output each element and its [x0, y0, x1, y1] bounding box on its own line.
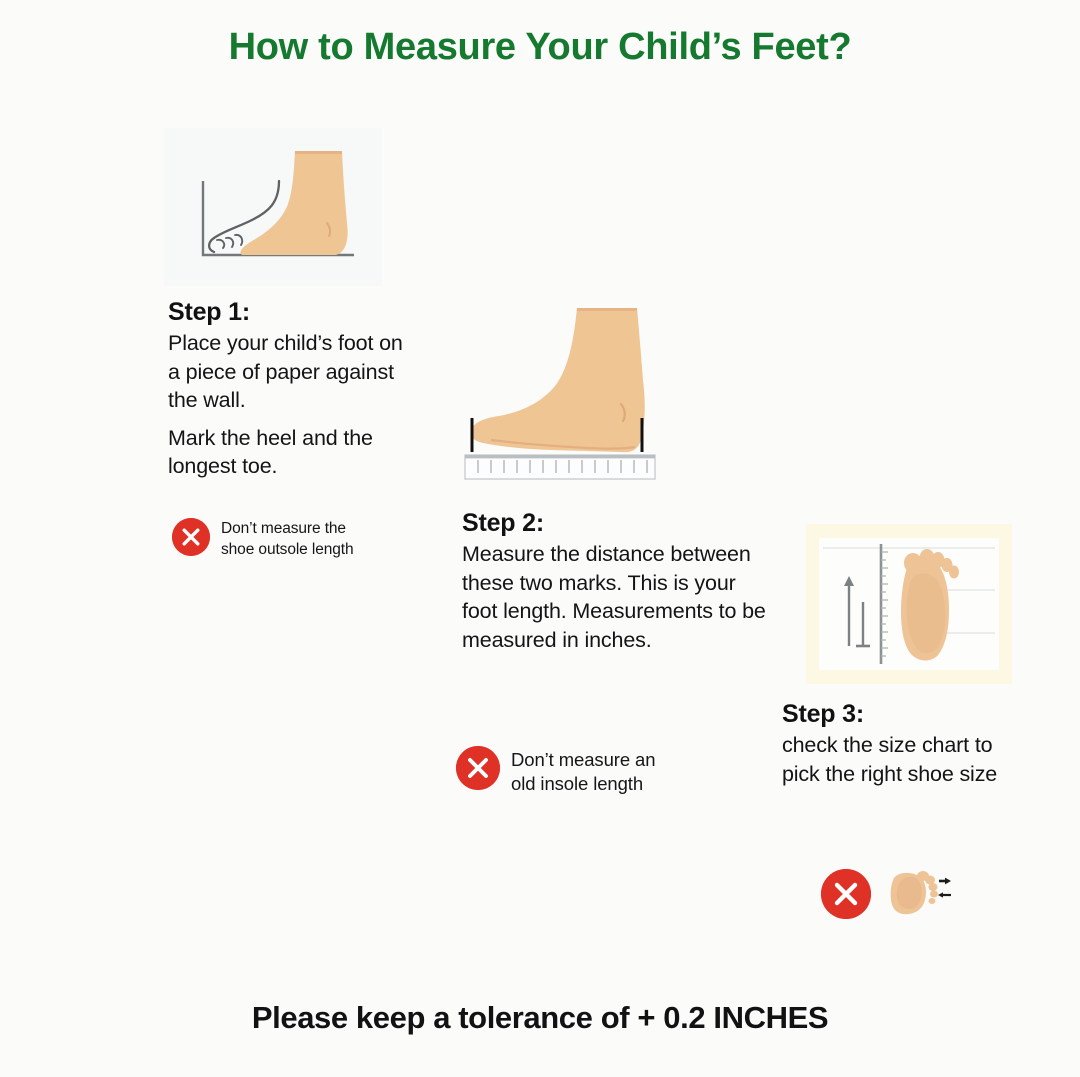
- step-2-paragraph-1: Measure the distance between these two m…: [462, 540, 772, 654]
- footprint-on-measuring-chart-icon: [819, 538, 999, 670]
- page-title: How to Measure Your Child’s Feet?: [0, 26, 1080, 69]
- step-1-body: Place your child’s foot on a piece of pa…: [168, 329, 418, 481]
- step-1-text: Step 1: Place your child’s foot on a pie…: [168, 298, 418, 481]
- step-1-warning-text: Don’t measure the shoe outsole length: [221, 518, 362, 560]
- step-2-label: Step 2:: [462, 509, 772, 537]
- step-1-paragraph-1: Place your child’s foot on a piece of pa…: [168, 329, 418, 415]
- foot-profile-with-ruler-icon: [455, 300, 677, 486]
- step-1-illustration: [164, 128, 382, 286]
- red-x-circle-icon: [456, 746, 500, 790]
- step-2-body: Measure the distance between these two m…: [462, 540, 772, 654]
- step-2-illustration: [455, 300, 677, 486]
- step-3-text: Step 3: check the size chart to pick the…: [782, 700, 1012, 788]
- step-3-body: check the size chart to pick the right s…: [782, 731, 1012, 788]
- step-2-warning: Don’t measure an old insole length: [456, 746, 656, 796]
- step-3-warning: [821, 864, 971, 923]
- step-3-label: Step 3:: [782, 700, 1012, 728]
- infographic-canvas: How to Measure Your Child’s Feet? Step 1…: [0, 0, 1080, 1077]
- tolerance-note: Please keep a tolerance of + 0.2 INCHES: [0, 1000, 1080, 1036]
- step-1-paragraph-2: Mark the heel and the longest toe.: [168, 424, 418, 481]
- step-1-label: Step 1:: [168, 298, 418, 326]
- step-2-warning-text: Don’t measure an old insole length: [511, 746, 656, 796]
- step-1-warning: Don’t measure the shoe outsole length: [172, 518, 362, 560]
- red-x-circle-icon: [172, 518, 210, 556]
- foot-profile-against-wall-icon: [164, 128, 382, 286]
- footprint-with-arrows-icon: [885, 864, 953, 923]
- step-3-illustration: [806, 524, 1012, 684]
- red-x-circle-icon: [821, 869, 871, 919]
- step-2-text: Step 2: Measure the distance between the…: [462, 509, 772, 654]
- step-3-paragraph-1: check the size chart to pick the right s…: [782, 731, 1012, 788]
